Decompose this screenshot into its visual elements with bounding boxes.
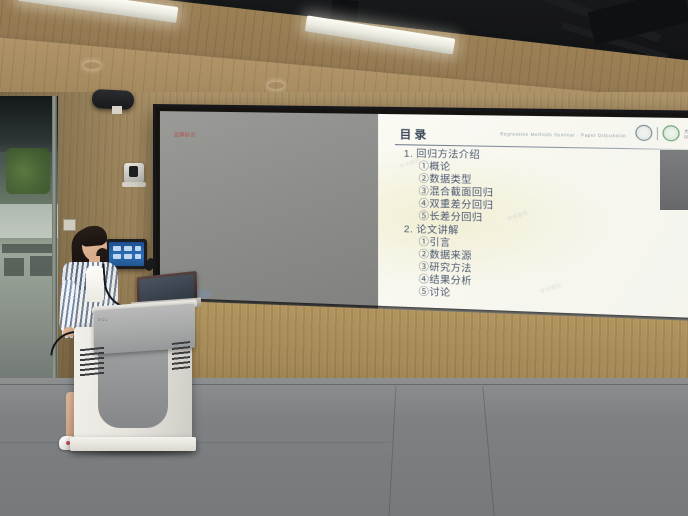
adjacent-room-wall bbox=[0, 204, 58, 238]
floor-seam-vertical-1 bbox=[389, 386, 397, 516]
podium-brand-label: PCL bbox=[98, 317, 109, 323]
downlight-2 bbox=[268, 82, 284, 89]
camera-lens-icon bbox=[129, 166, 138, 177]
speaker-bracket bbox=[112, 106, 122, 114]
downlight-1 bbox=[84, 62, 100, 69]
presenter-white-top bbox=[86, 266, 104, 302]
touch-panel-button[interactable] bbox=[135, 246, 141, 251]
slide-logos: 大学 UNIVERSITY bbox=[635, 125, 688, 142]
camera-base bbox=[122, 182, 146, 187]
room-camera-icon bbox=[124, 163, 144, 183]
touch-panel-button[interactable] bbox=[124, 254, 132, 259]
touch-panel-button[interactable] bbox=[113, 246, 121, 251]
university-crest-icon bbox=[635, 125, 652, 141]
department-crest-icon bbox=[662, 125, 679, 141]
lecture-hall-photo: 品牌标识 目录 Regression Methods Seminar · Pap… bbox=[0, 0, 688, 516]
adjacent-room-chair-2 bbox=[30, 256, 54, 276]
presenter-arm bbox=[59, 280, 76, 332]
wall-outlet-plate bbox=[63, 219, 76, 231]
podium-base bbox=[70, 437, 196, 451]
presenter-hair-front bbox=[78, 225, 108, 247]
touch-panel-button[interactable] bbox=[113, 254, 121, 259]
touch-panel-button[interactable] bbox=[124, 246, 132, 251]
university-name-line2: UNIVERSITY bbox=[684, 133, 688, 139]
floor-seam-vertical-2 bbox=[482, 386, 494, 516]
slide-outline-list: 1. 回归方法介绍 ①概论 ②数据类型 ③混合截面回归 ④双重差分回归 ⑤长差分… bbox=[393, 148, 688, 310]
logo-divider bbox=[657, 127, 658, 140]
glass-ceiling-reflection bbox=[0, 96, 58, 152]
screen-corner-logo: 品牌标识 bbox=[174, 131, 196, 138]
foliage-through-glass bbox=[6, 148, 50, 194]
glass-partition bbox=[0, 96, 58, 396]
adjacent-room-table bbox=[2, 244, 54, 253]
touch-panel-button[interactable] bbox=[135, 254, 141, 259]
screen-right-reflection bbox=[660, 150, 688, 210]
adjacent-room-chair-1 bbox=[4, 258, 24, 276]
podium-vent-right bbox=[172, 341, 190, 371]
podium-vent-left bbox=[80, 347, 104, 378]
